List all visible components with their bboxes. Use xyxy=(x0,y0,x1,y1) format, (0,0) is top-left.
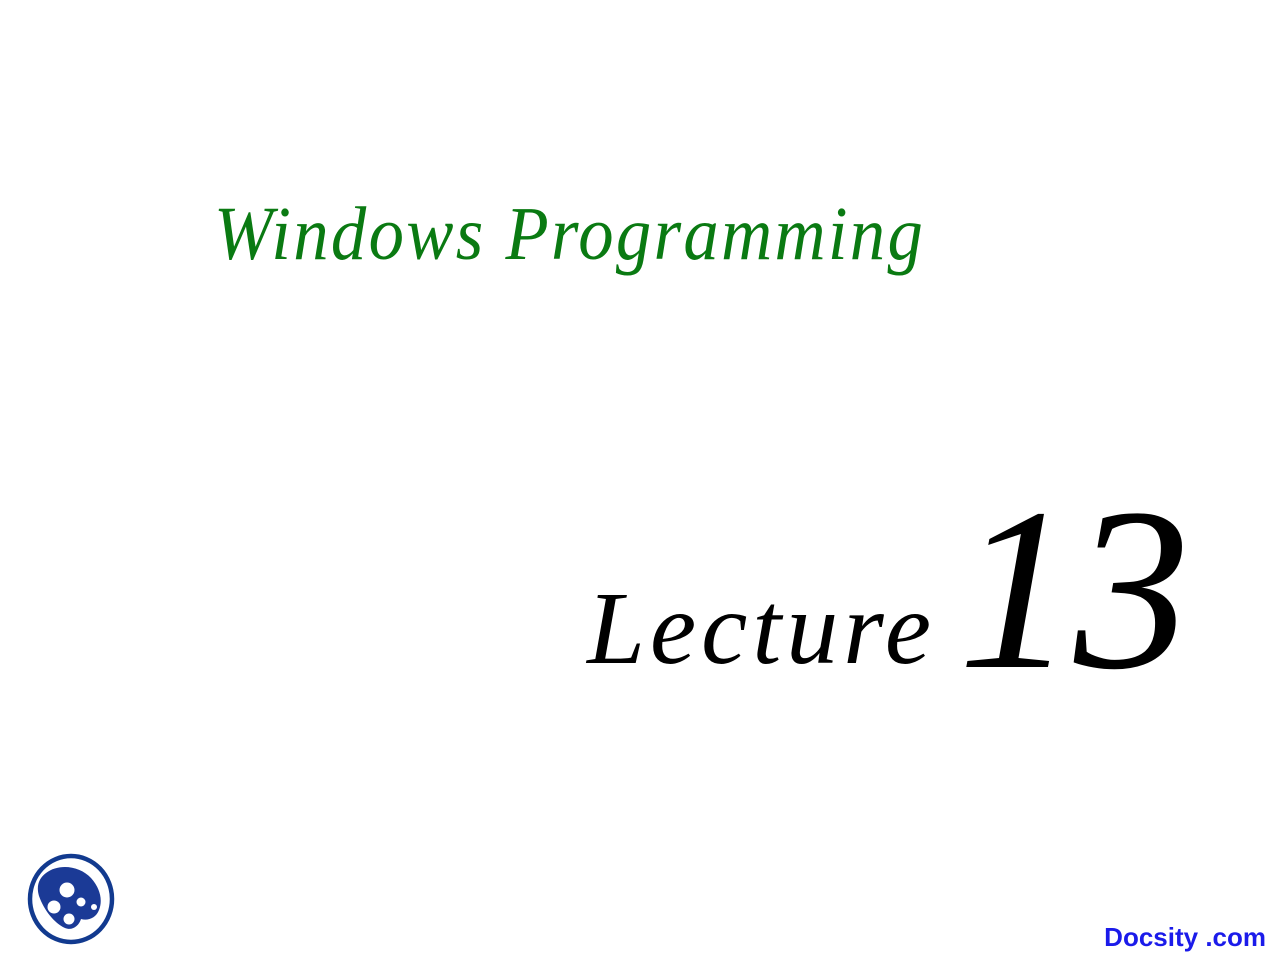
logo-dot-5 xyxy=(91,904,97,910)
logo-dot-2 xyxy=(48,901,61,914)
presentation-slide: Windows Programming Lecture 13 Docsity .… xyxy=(0,0,1280,960)
lecture-label: Lecture xyxy=(587,577,936,681)
logo-dot-1 xyxy=(60,883,75,898)
logo-dot-4 xyxy=(64,914,75,925)
docsity-cookie-logo-icon xyxy=(26,852,116,946)
docsity-logo xyxy=(26,852,116,946)
logo-dot-3 xyxy=(77,898,86,907)
docsity-wordmark[interactable]: Docsity .com xyxy=(1104,924,1266,950)
lecture-number: 13 xyxy=(958,474,1190,706)
page-title: Windows Programming xyxy=(214,186,1014,282)
lecture-heading: Lecture 13 xyxy=(0,470,1190,700)
